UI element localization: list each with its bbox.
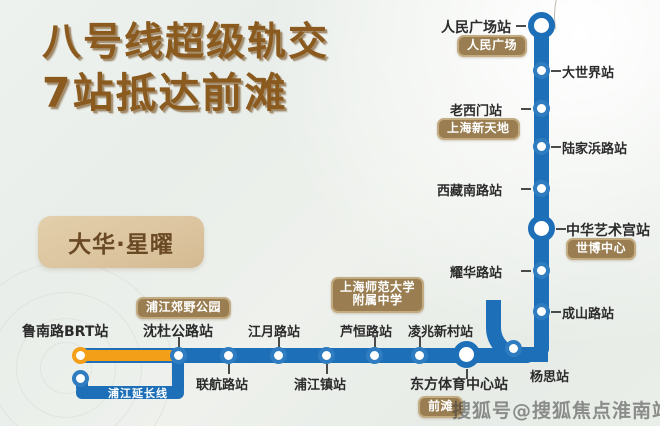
- station-dot-spur[interactable]: [72, 370, 89, 387]
- station-label-chengshan: 成山路站: [562, 303, 614, 322]
- headline-line-1: 八号线超级轨交: [42, 22, 329, 64]
- station-label-pujiang-town: 浦江镇站: [294, 374, 346, 393]
- station-label-lujiabang: 陆家浜路站: [562, 138, 627, 157]
- station-label-shendu-road: 沈杜公路站: [143, 321, 213, 341]
- station-badge-expo-center: 世博中心: [566, 238, 636, 260]
- station-dot-renmin-square[interactable]: [528, 12, 555, 39]
- station-dot-lujiabang[interactable]: [533, 138, 550, 155]
- label-tick: [521, 270, 531, 272]
- headline-line-2: 7站抵达前滩: [42, 71, 329, 115]
- station-dot-jiangyue-road[interactable]: [270, 347, 287, 364]
- label-tick: [516, 25, 526, 27]
- station-dot-oriental-sports-center[interactable]: [453, 341, 480, 368]
- brand-badge: 大华·星曜: [38, 216, 204, 268]
- station-label-renmin-square: 人民广场站: [441, 17, 511, 37]
- station-label-lingzhao-village: 凌兆新村站: [408, 321, 473, 340]
- station-dot-yangsi[interactable]: [505, 340, 522, 357]
- station-dot-laoximen[interactable]: [533, 100, 550, 117]
- station-label-lianhang-road: 联航路站: [196, 374, 248, 393]
- station-dot-luheng-road[interactable]: [366, 347, 383, 364]
- station-dot-pujiang-town[interactable]: [318, 347, 335, 364]
- station-label-lunan-brt: 鲁南路BRT站: [22, 321, 108, 341]
- station-badge-renmin-square: 人民广场: [457, 35, 527, 57]
- station-label-laoximen: 老西门站: [450, 100, 502, 119]
- station-badge-pujiang-park: 浦江郊野公园: [136, 297, 231, 319]
- headline: 八号线超级轨交 7站抵达前滩: [42, 22, 329, 115]
- ripple-decoration: [0, 262, 172, 426]
- label-tick: [551, 70, 561, 72]
- brt-line-segment: [76, 350, 184, 361]
- label-tick: [521, 108, 531, 110]
- label-tick: [521, 188, 531, 190]
- station-dot-shendu-road[interactable]: [170, 347, 187, 364]
- label-tick: [228, 364, 230, 374]
- watermark-text: 搜狐号@搜狐焦点淮南站: [452, 396, 660, 423]
- station-label-yangsi: 杨思站: [530, 366, 569, 385]
- station-label-yaohua: 耀华路站: [450, 262, 502, 281]
- label-tick: [551, 146, 561, 148]
- spur-line-label: 浦江延长线: [92, 386, 184, 400]
- station-label-dashijie: 大世界站: [562, 62, 614, 81]
- shnu-badge-line-2: 附属中学: [340, 294, 415, 307]
- station-label-xizang-south: 西藏南路站: [437, 180, 502, 199]
- brand-label: 大华·星曜: [68, 225, 174, 259]
- station-dot-lunan-brt[interactable]: [72, 347, 89, 364]
- label-tick: [326, 364, 328, 374]
- station-label-jiangyue-road: 江月路站: [248, 321, 300, 340]
- station-label-oriental-sports-center: 东方体育中心站: [410, 374, 508, 394]
- station-dot-chengshan[interactable]: [533, 303, 550, 320]
- label-tick: [551, 311, 561, 313]
- station-dot-lianhang-road[interactable]: [220, 347, 237, 364]
- station-badge-shnu-affiliated-school: 上海师范大学 附属中学: [331, 277, 424, 313]
- station-dot-lingzhao-village[interactable]: [411, 347, 428, 364]
- station-label-china-art-museum: 中华艺术宫站: [566, 220, 650, 240]
- station-label-luheng-road: 芦恒路站: [340, 321, 392, 340]
- station-dot-dashijie[interactable]: [533, 62, 550, 79]
- station-dot-china-art-museum[interactable]: [528, 215, 555, 242]
- station-dot-xizang-south[interactable]: [533, 180, 550, 197]
- metro-route-poster: 八号线超级轨交 7站抵达前滩 大华·星曜 浦江延长线 人民广场站 人民广场 大世…: [0, 0, 660, 426]
- label-tick: [556, 228, 566, 230]
- station-badge-xintiandi: 上海新天地: [437, 118, 520, 140]
- station-dot-yaohua[interactable]: [533, 262, 550, 279]
